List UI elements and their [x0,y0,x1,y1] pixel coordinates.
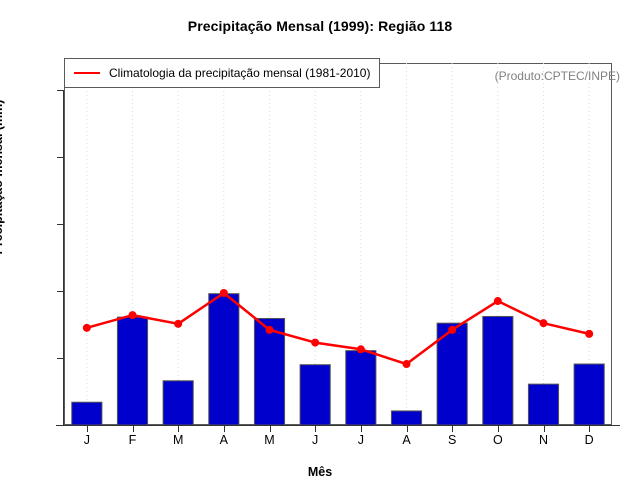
x-axis-tick-label: J [67,433,107,447]
plot-area [64,63,612,425]
x-axis-tick-mark [315,425,316,432]
x-axis-tick-label: M [250,433,290,447]
legend: Climatologia da precipitação mensal (198… [64,58,380,88]
x-axis-tick-label: J [295,433,335,447]
x-axis-tick-mark [87,425,88,432]
plot-canvas [64,63,612,425]
x-axis-tick-mark [270,425,271,432]
x-axis-tick-mark [452,425,453,432]
x-axis-tick-label: A [204,433,244,447]
x-axis-tick-mark [544,425,545,432]
x-axis-tick-label: A [387,433,427,447]
precipitation-chart-figure: Precipitação Mensal (1999): Região 118 0… [0,0,640,500]
x-axis-tick-label: N [524,433,564,447]
x-axis-tick-mark [133,425,134,432]
x-axis-tick-mark [407,425,408,432]
x-axis-title: Mês [0,465,640,479]
x-axis-tick-label: J [341,433,381,447]
x-axis-tick-label: M [158,433,198,447]
x-axis-tick-label: F [113,433,153,447]
x-axis-spine [56,425,620,426]
x-axis-tick-mark [589,425,590,432]
page-title: Precipitação Mensal (1999): Região 118 [0,18,640,34]
x-axis-tick-label: S [432,433,472,447]
legend-line-swatch-icon [74,72,100,74]
x-axis-tick-mark [178,425,179,432]
x-axis-tick-label: D [569,433,609,447]
x-axis-tick-mark [224,425,225,432]
x-axis-tick-mark [498,425,499,432]
y-axis-spine [63,90,64,425]
y-axis-title: Precipitação mensal (mm) [0,0,5,357]
x-axis-tick-mark [361,425,362,432]
watermark-label: (Produto:CPTEC/INPE) [495,69,620,83]
x-axis-tick-label: O [478,433,518,447]
legend-label: Climatologia da precipitação mensal (198… [109,66,370,80]
